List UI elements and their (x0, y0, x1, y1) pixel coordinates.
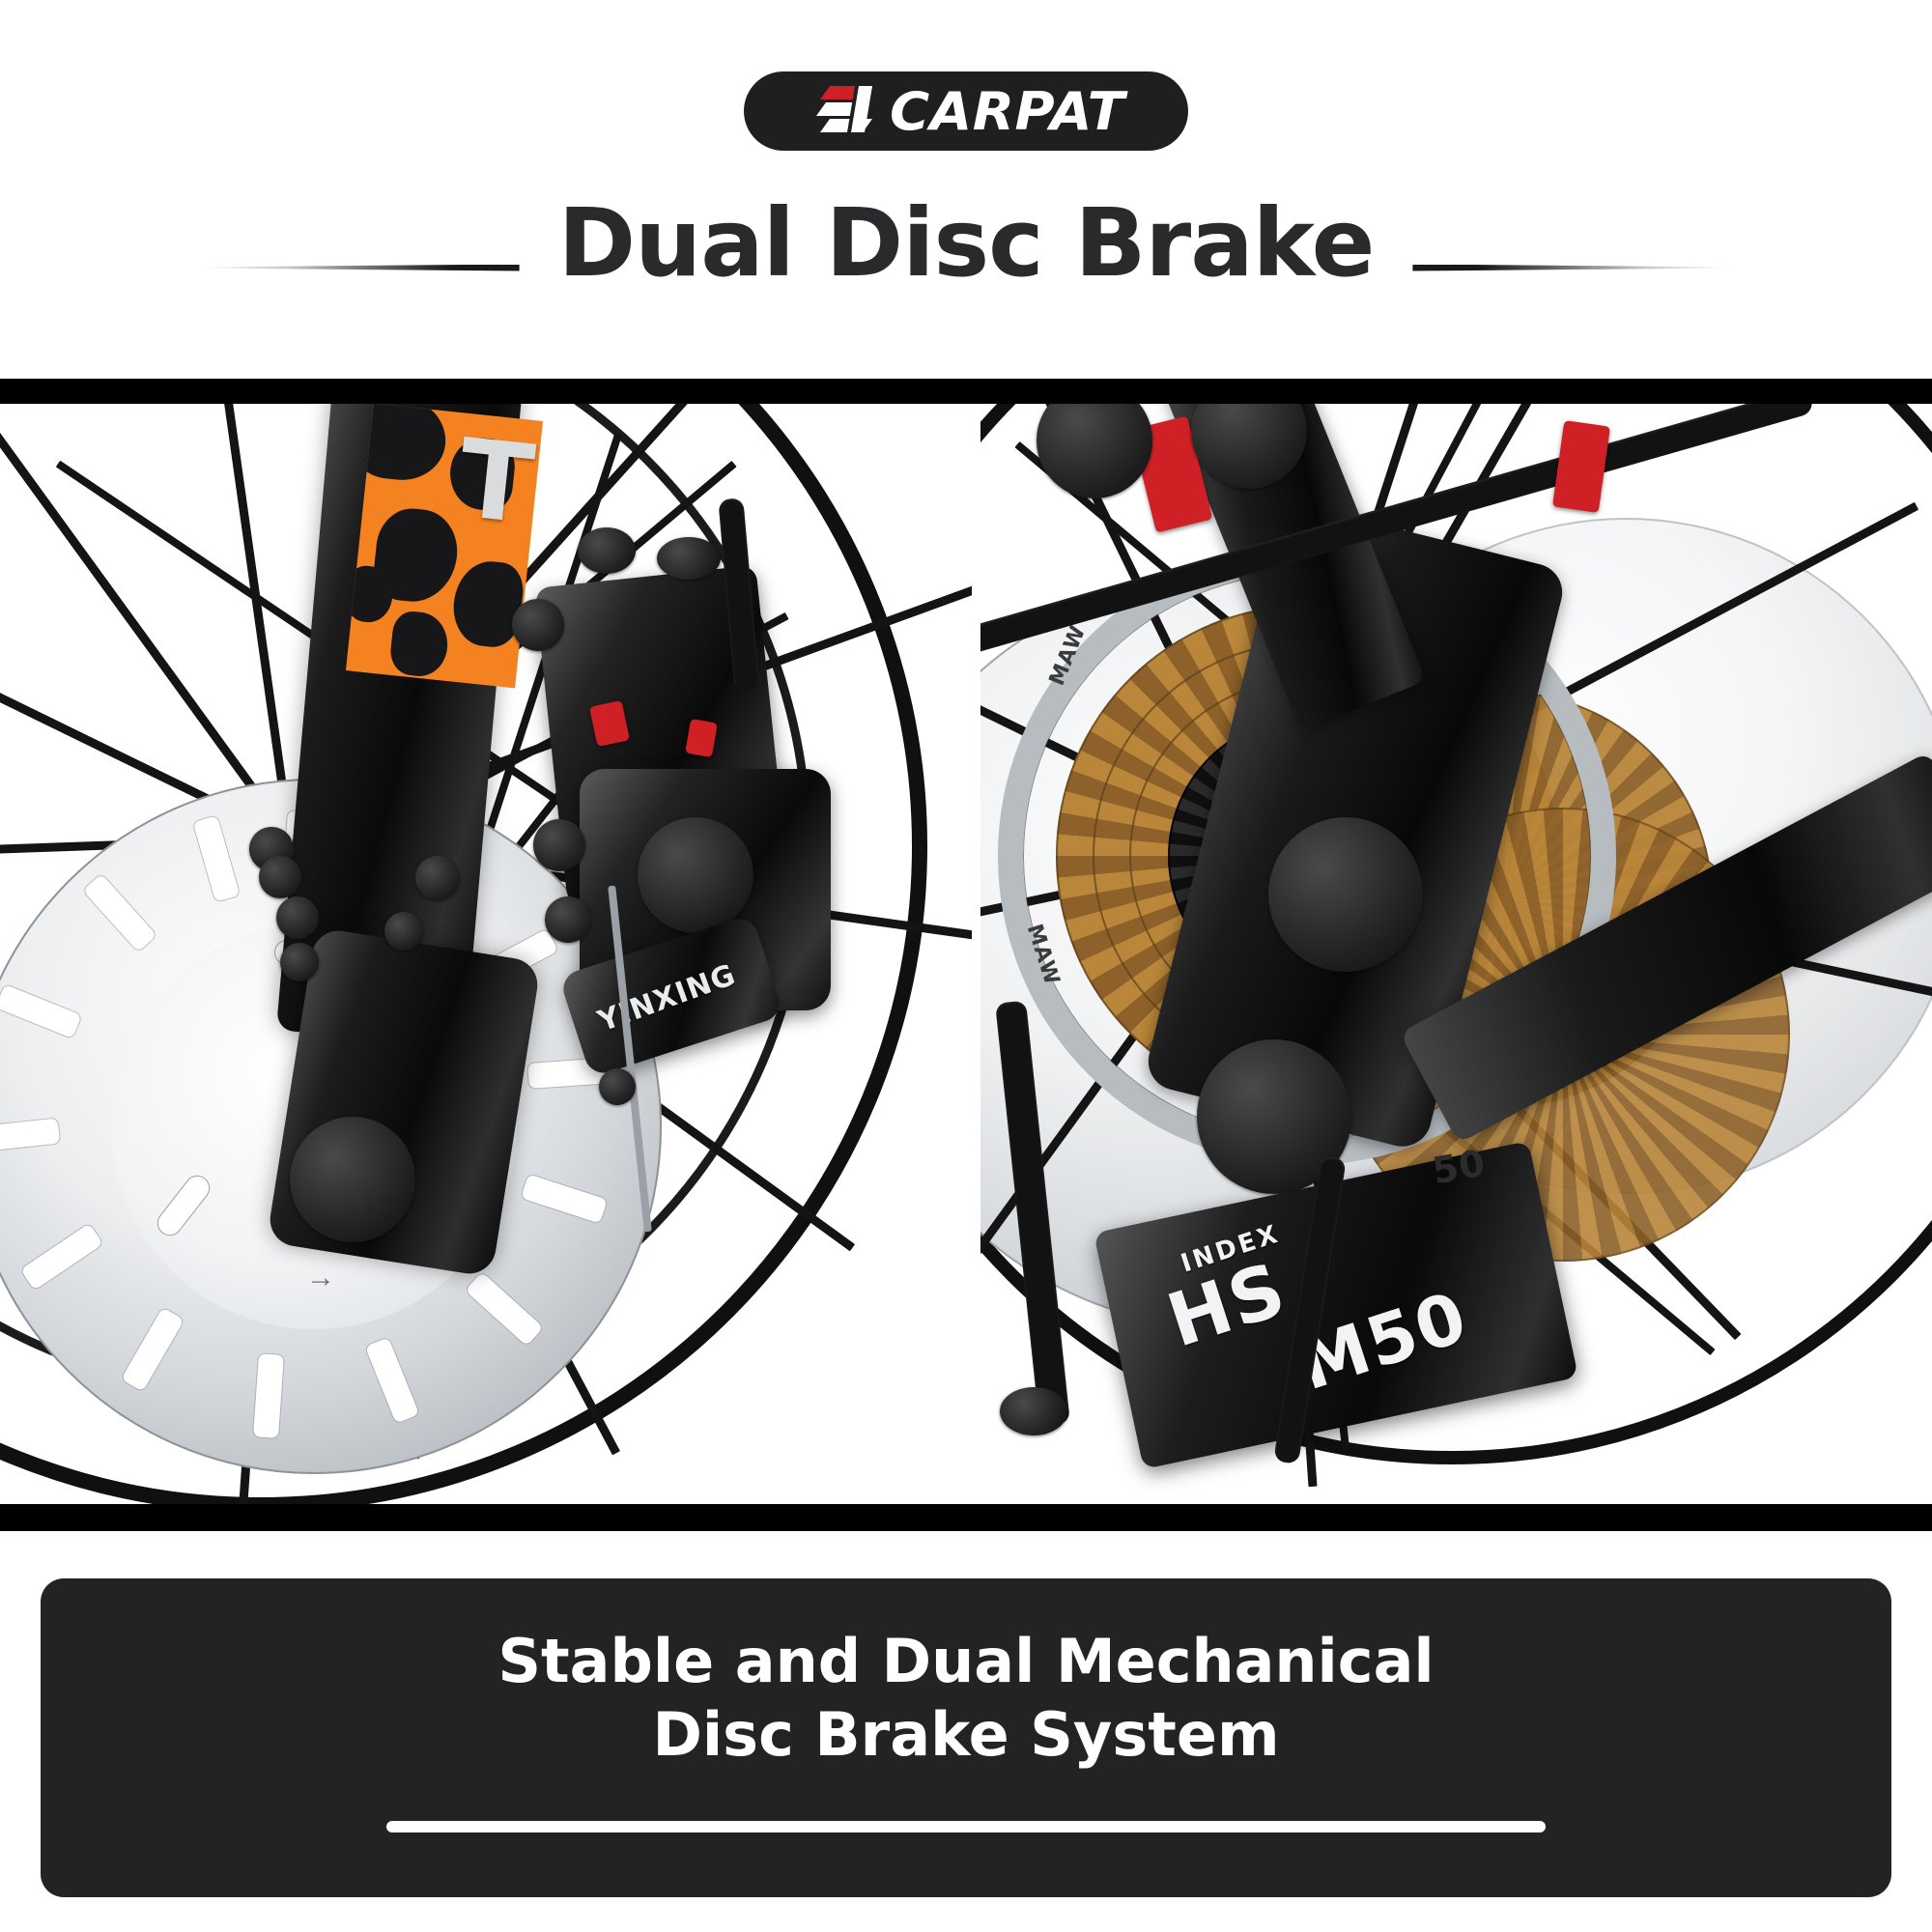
brand-logo-pill: CARPAT (744, 71, 1188, 151)
rotor-bolt (280, 943, 319, 981)
fork-decal: T (346, 404, 543, 689)
caliper-mount-bolt (545, 896, 591, 943)
rotor-direction-arrow: → (306, 1269, 366, 1287)
brand-name: CARPAT (890, 86, 1124, 138)
rotor-slot (83, 873, 157, 952)
cable-barrel-nut (578, 527, 636, 574)
rotor-bolt (259, 856, 301, 898)
caption-line-1: Stable and Dual Mechanical (497, 1625, 1434, 1698)
rotor-slot (521, 1174, 608, 1223)
title-row: Dual Disc Brake (0, 189, 1932, 296)
photo-rear-cassette-derailleur: MAW MAW INDEX HS M50 50 (979, 402, 1932, 1504)
rotor-slot (465, 1272, 543, 1347)
rotor-slot (365, 1337, 419, 1423)
rotor-bolt (415, 856, 460, 900)
title-rule-left (201, 265, 520, 271)
cog-marking-label: 50 (1430, 1142, 1490, 1193)
header: CARPAT Dual Disc Brake (0, 0, 1932, 357)
photo-bottom-bar (0, 1504, 1932, 1531)
caliper-adjuster-dial (638, 817, 753, 933)
caption-box: Stable and Dual Mechanical Disc Brake Sy… (41, 1578, 1891, 1897)
page-title: Dual Disc Brake (558, 196, 1375, 290)
title-rule-right (1412, 265, 1731, 271)
rotor-slot (193, 815, 241, 902)
rotor-slot (121, 1307, 185, 1391)
rotor-bolt (384, 912, 423, 951)
caliper-mount-bolt (533, 819, 585, 871)
rotor-bolt (276, 896, 319, 939)
caption-underline (386, 1821, 1546, 1833)
photo-divider (972, 402, 980, 1504)
decal-splatter (388, 610, 451, 679)
photo-front-disc-brake: → T YINXING (0, 402, 979, 1504)
product-photo-panel: → T YINXING (0, 357, 1932, 1531)
rotor-slot (20, 1223, 103, 1291)
cable-end-cap (1000, 1387, 1067, 1435)
carpat-logo-mark-icon (816, 84, 876, 138)
rear-axle-nut (1268, 817, 1423, 972)
photo-top-bar (0, 379, 1932, 404)
cable-barrel-adjuster (657, 537, 721, 580)
hub-axle-nut (290, 1117, 415, 1242)
rotor-slot (253, 1353, 284, 1438)
caption-line-2: Disc Brake System (652, 1698, 1279, 1772)
rotor-slot (0, 1119, 60, 1152)
cable-clamp (599, 1068, 636, 1105)
caliper-mount-bolt (512, 599, 564, 651)
rotor-slot (0, 984, 82, 1038)
decal-letter: T (454, 425, 539, 540)
